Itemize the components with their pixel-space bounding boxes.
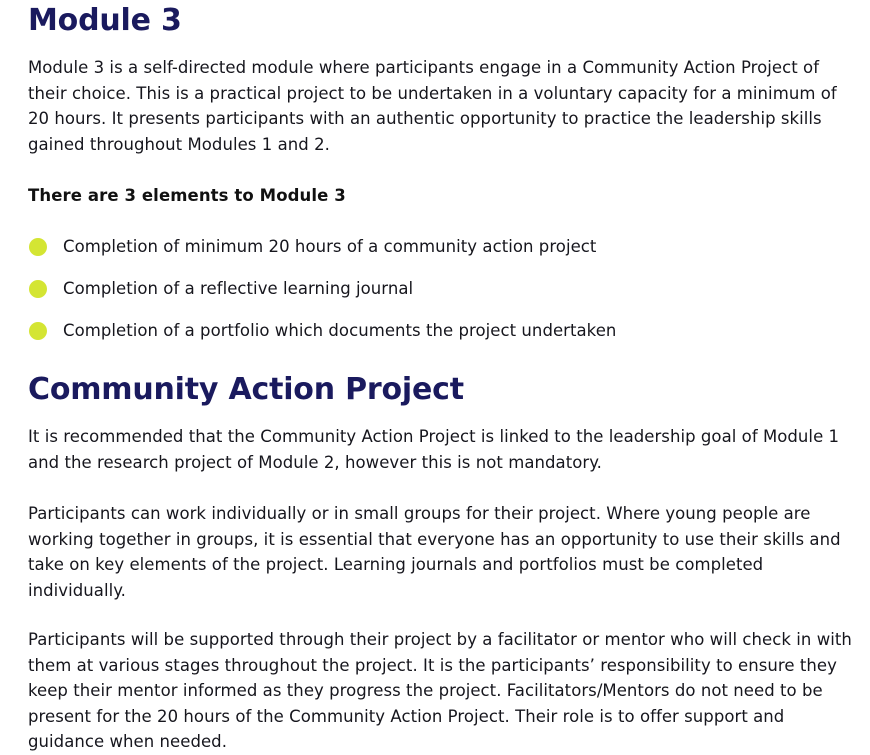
page-title-module-3: Module 3 xyxy=(28,0,860,38)
list-item: Completion of a reflective learning jour… xyxy=(28,276,860,301)
bullet-dot-icon xyxy=(29,238,47,256)
section-heading-community-action-project: Community Action Project xyxy=(28,373,860,407)
elements-subheading: There are 3 elements to Module 3 xyxy=(28,183,860,208)
list-item: Completion of minimum 20 hours of a comm… xyxy=(28,234,860,259)
bullet-dot-icon xyxy=(29,280,47,298)
community-action-paragraph-3: Participants will be supported through t… xyxy=(28,627,860,755)
spacer xyxy=(28,301,860,318)
document-page: Module 3 Module 3 is a self-directed mod… xyxy=(0,0,870,687)
list-item: Completion of a portfolio which document… xyxy=(28,318,860,343)
spacer xyxy=(28,475,860,501)
list-item-label: Completion of a reflective learning jour… xyxy=(63,279,413,298)
spacer xyxy=(28,208,860,234)
module-3-elements-list: Completion of minimum 20 hours of a comm… xyxy=(28,234,860,343)
community-action-paragraph-1: It is recommended that the Community Act… xyxy=(28,424,846,475)
list-item-label: Completion of minimum 20 hours of a comm… xyxy=(63,237,596,256)
community-action-paragraph-2: Participants can work individually or in… xyxy=(28,501,860,603)
spacer xyxy=(28,343,860,373)
spacer xyxy=(28,407,860,424)
spacer xyxy=(28,259,860,276)
bullet-dot-icon xyxy=(29,322,47,340)
list-item-label: Completion of a portfolio which document… xyxy=(63,321,616,340)
spacer xyxy=(28,157,860,183)
spacer xyxy=(28,38,860,55)
module-3-intro-paragraph: Module 3 is a self-directed module where… xyxy=(28,55,860,157)
spacer xyxy=(28,603,860,627)
